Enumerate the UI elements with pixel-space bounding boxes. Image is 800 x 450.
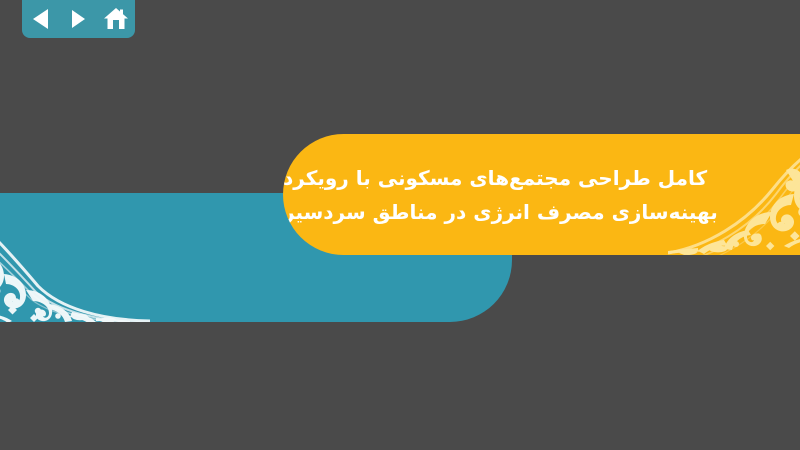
home-button[interactable] (101, 5, 131, 33)
triangle-right-icon (68, 8, 88, 30)
home-icon (103, 7, 129, 31)
previous-slide-button[interactable] (26, 5, 56, 33)
orange-title-panel: کامل طراحی مجتمع‌های مسکونی با رویکرد به… (283, 134, 800, 255)
slide-title: کامل طراحی مجتمع‌های مسکونی با رویکرد به… (283, 134, 800, 255)
teal-arabesque-ornament-icon (0, 193, 150, 322)
slide-navigation-toolbar (22, 0, 135, 38)
title-line-1: کامل طراحی مجتمع‌های مسکونی با رویکرد (283, 161, 707, 195)
title-line-2: بهینه‌سازی مصرف انرژی در مناطق سردسیر (283, 195, 718, 229)
triangle-left-icon (31, 8, 51, 30)
slide-canvas: کامل طراحی مجتمع‌های مسکونی با رویکرد به… (0, 0, 800, 450)
next-slide-button[interactable] (63, 5, 93, 33)
